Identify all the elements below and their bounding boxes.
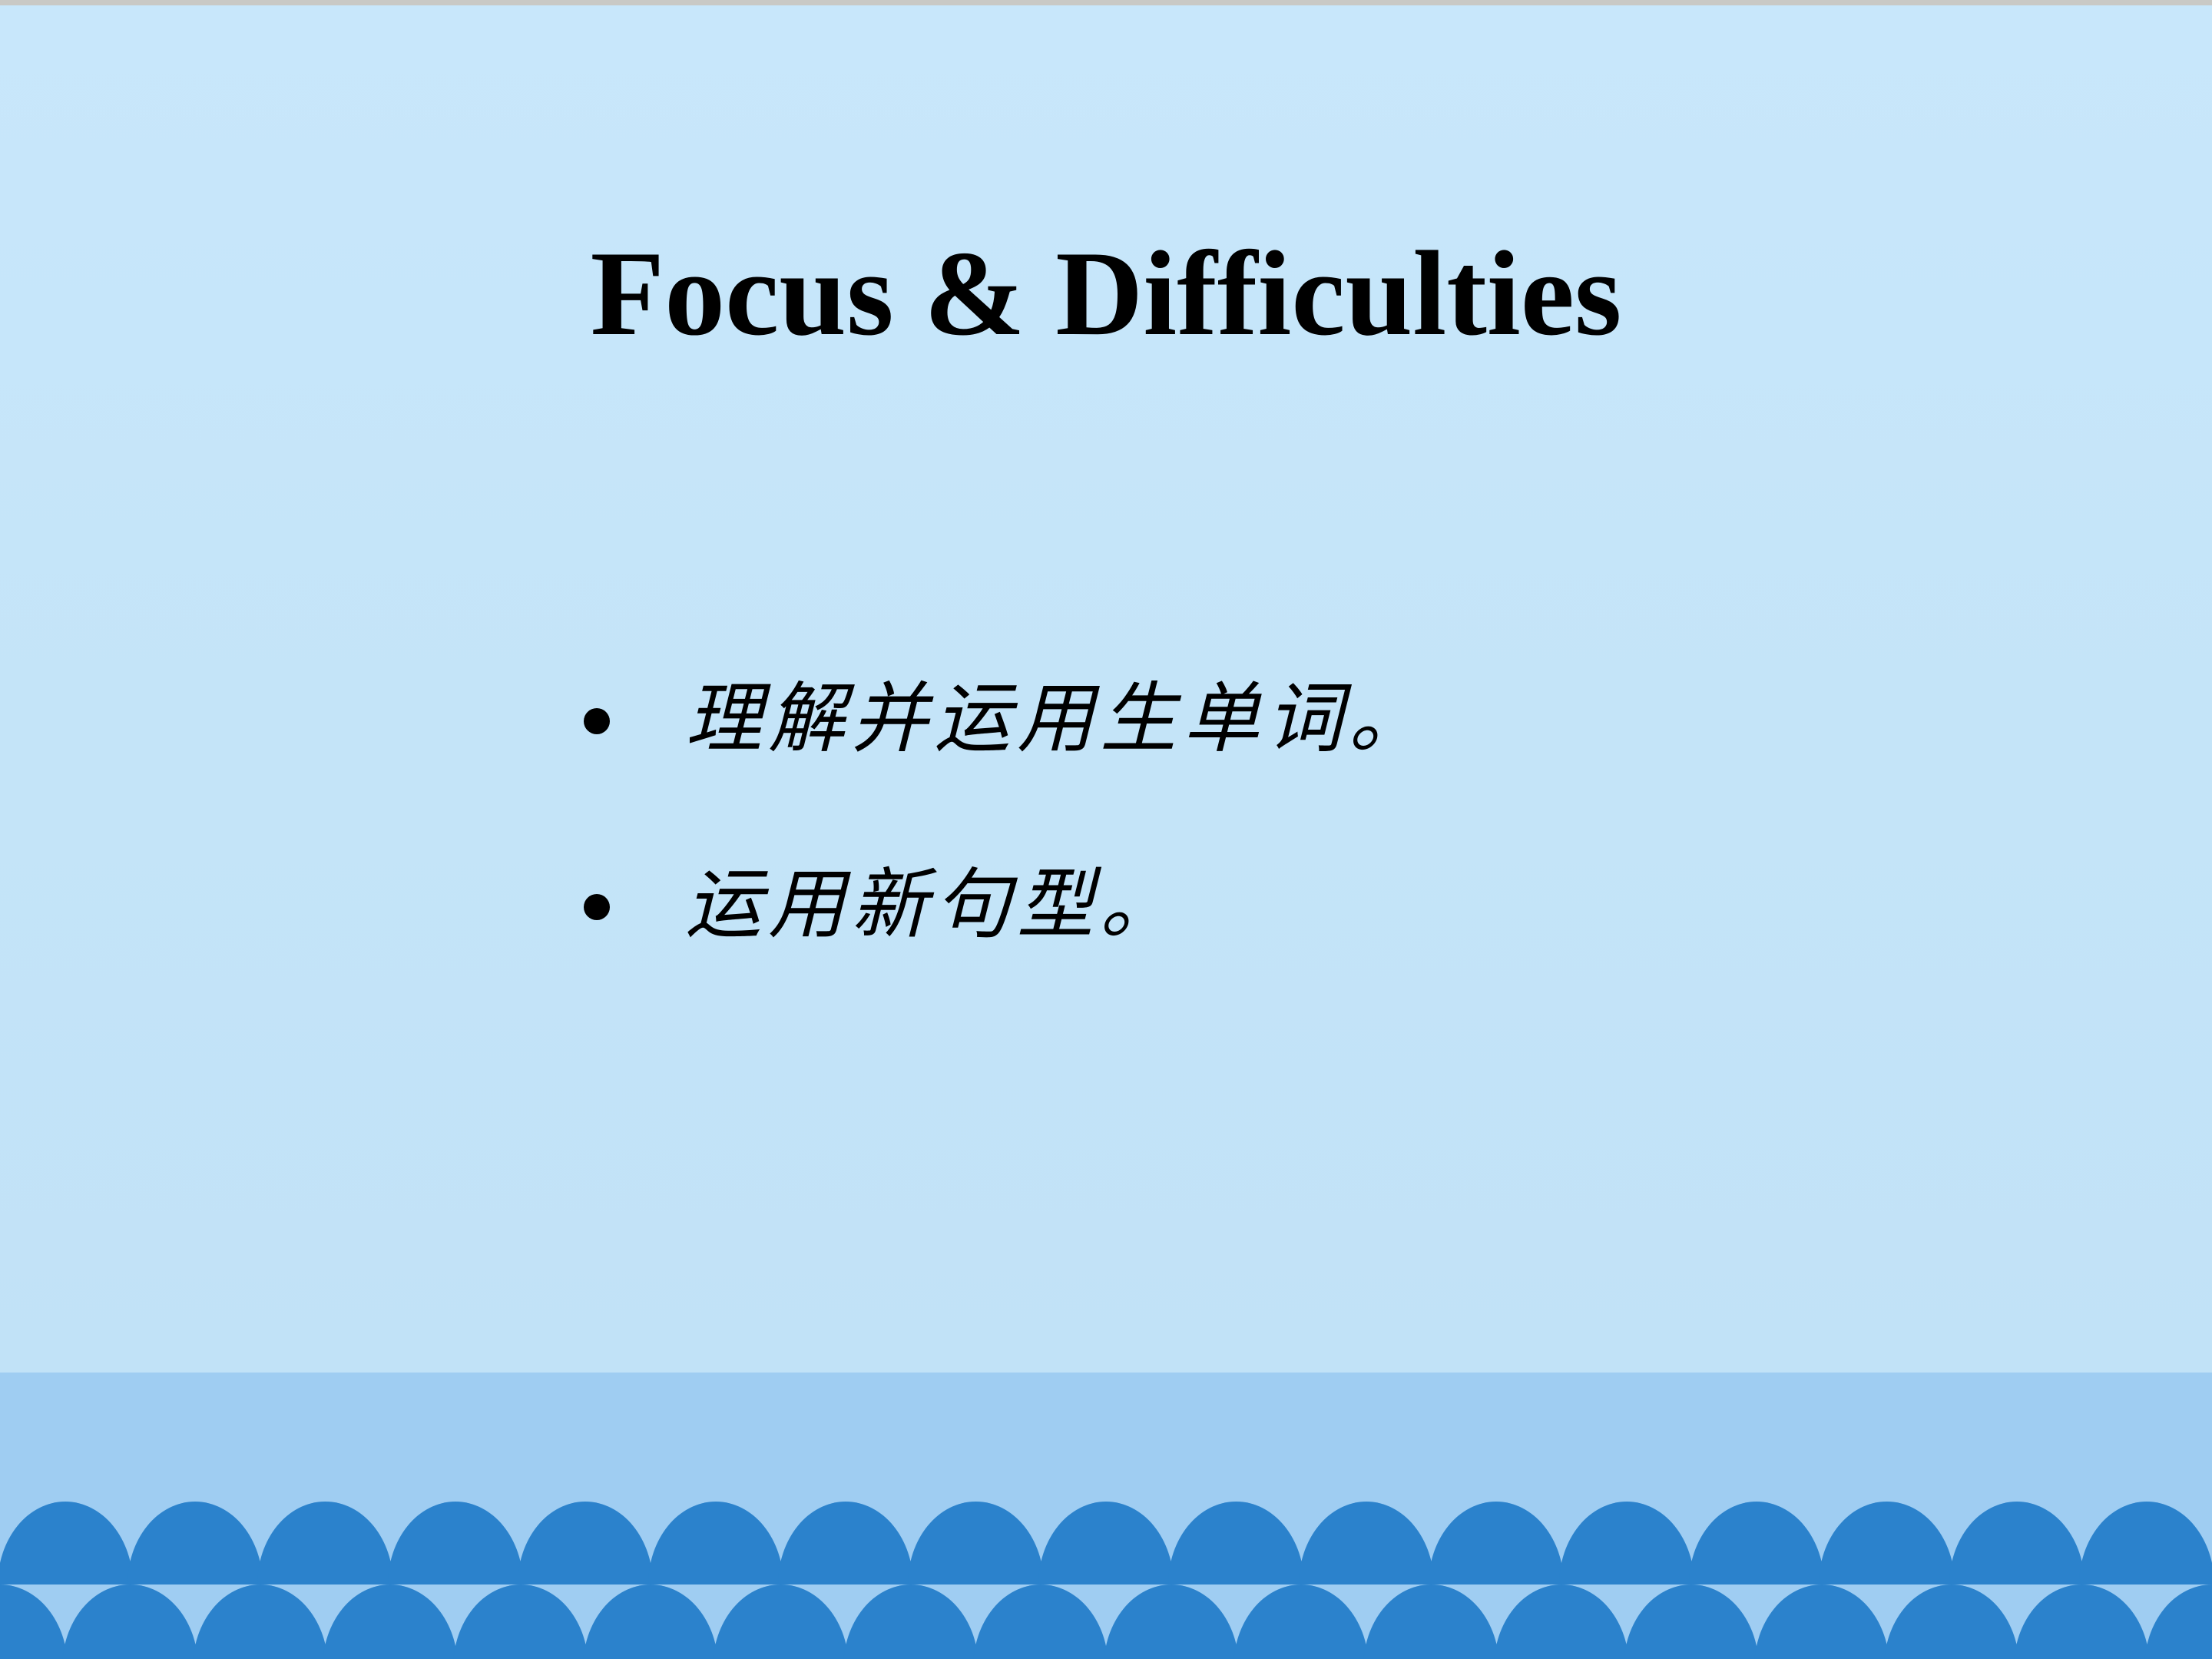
scallop-circle [62,1584,197,1659]
slide-title: Focus & Difficulties [0,230,2212,358]
scallop-circle [2210,1502,2212,1584]
scallop-circle [2079,1502,2212,1584]
scallop-circle [1754,1584,1889,1659]
list-item: 理解并运用生单词。 [584,670,2043,773]
scallop-circle [1168,1502,1303,1584]
scallop-circle [1689,1502,1824,1584]
scallop-circle [2014,1584,2149,1659]
scallop-circle [843,1584,979,1659]
scallop-circle [193,1584,328,1659]
bullet-dot-icon [584,708,610,734]
scallop-circle [127,1502,263,1584]
scallop-circle [0,1502,133,1584]
scallop-circle [648,1502,783,1584]
scallop-row-lower [0,1584,2212,1659]
scallop-strip [0,1502,2212,1584]
bottom-decorative-band [0,1373,2212,1659]
scallop-circle [1299,1502,1434,1584]
scallop-circle [1559,1502,1694,1584]
scallop-circle [518,1502,653,1584]
scallop-row-upper [0,1502,2212,1584]
bullet-dot-icon [584,894,610,920]
scallop-circle [973,1584,1108,1659]
scallop-circle [323,1584,458,1659]
scallop-circle [257,1502,392,1584]
scallop-circle [1104,1584,1239,1659]
scallop-circle [1884,1584,2019,1659]
scallop-circle [453,1584,588,1659]
scallop-circle [1038,1502,1174,1584]
scallop-strip [0,1584,2212,1659]
scallop-circle [713,1584,848,1659]
bullet-item-text: 运用新句型。 [685,856,1183,954]
bullet-list: 理解并运用生单词。 运用新句型。 [584,670,2043,1041]
scallop-circle [1819,1502,1954,1584]
scallop-circle [1494,1584,1629,1659]
scallop-circle [1363,1584,1498,1659]
scallop-circle [908,1502,1043,1584]
scallop-circle [583,1584,718,1659]
presentation-slide: Focus & Difficulties 理解并运用生单词。 运用新句型。 [0,0,2212,1659]
scallop-circle [1233,1584,1369,1659]
scallop-circle [778,1502,913,1584]
scallop-circle [1429,1502,1564,1584]
top-edge-strip [0,0,2212,5]
list-item: 运用新句型。 [584,856,2043,959]
bullet-item-text: 理解并运用生单词。 [685,670,1432,768]
scallop-circle [1949,1502,2085,1584]
scallop-circle [2144,1584,2212,1659]
scallop-circle [388,1502,523,1584]
scallop-circle [0,1584,68,1659]
scallop-circle [1624,1584,1759,1659]
